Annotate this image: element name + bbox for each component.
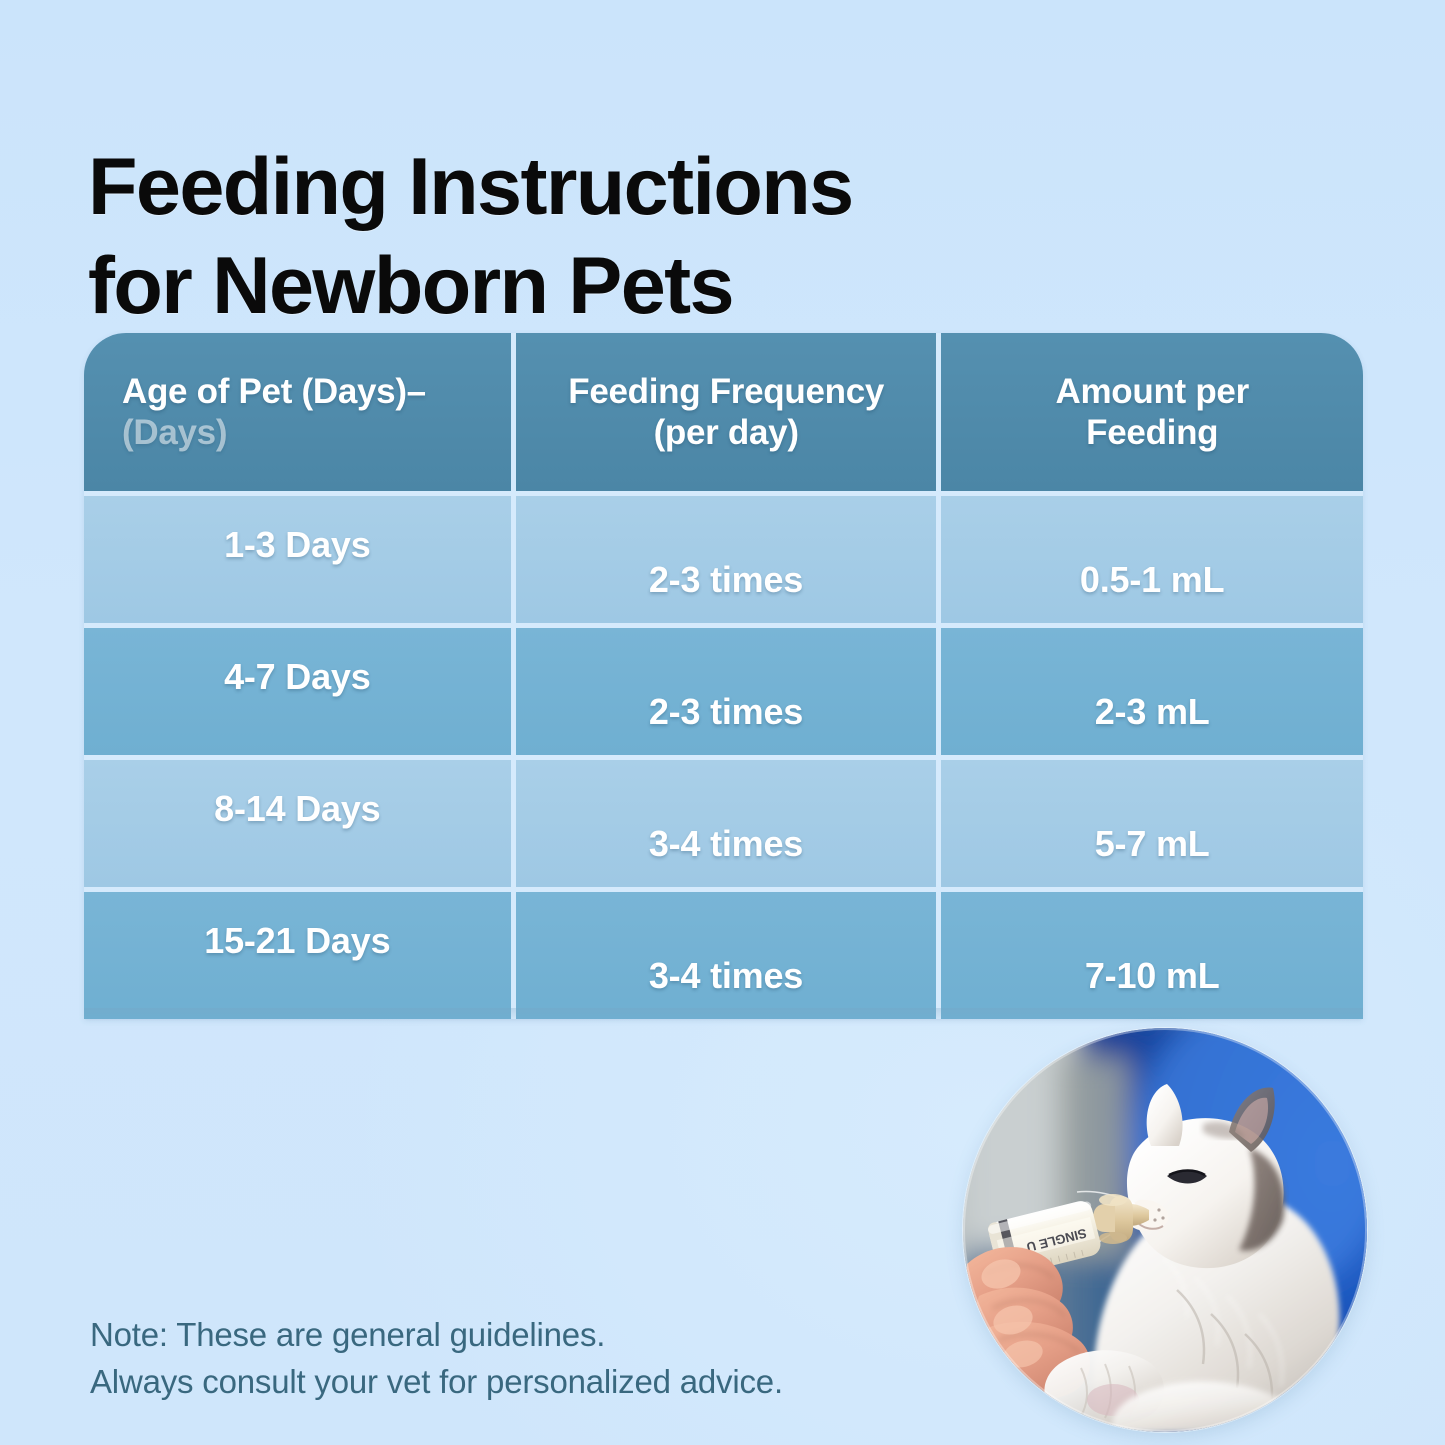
cell-frequency: 2-3 times (516, 628, 937, 755)
note-line-2: Always consult your vet for personalized… (90, 1359, 783, 1406)
page-title-line-1: Feeding Instructions (88, 138, 1188, 237)
table-header-row: Age of Pet (Days)– (Days) Feeding Freque… (84, 333, 1363, 491)
cell-age: 1-3 Days (84, 496, 511, 623)
cell-age: 8-14 Days (84, 760, 511, 887)
table-header-amount-line-2: Feeding (1086, 412, 1218, 453)
cell-amount: 0.5-1 mL (941, 496, 1363, 623)
table-header-age-sub: (Days) (122, 412, 227, 453)
kitten-bottle-feeding-photo: SINGLE U (963, 1028, 1367, 1432)
page-title: Feeding Instructions for Newborn Pets (88, 138, 1188, 336)
cell-frequency: 2-3 times (516, 496, 937, 623)
page-title-line-2: for Newborn Pets (88, 237, 1188, 336)
table-header-amount: Amount per Feeding (941, 333, 1363, 491)
table-header-age-main: Age of Pet (Days)– (122, 371, 426, 412)
cell-age: 4-7 Days (84, 628, 511, 755)
table-row: 8-14 Days 3-4 times 5-7 mL (84, 760, 1363, 887)
table-row: 15-21 Days 3-4 times 7-10 mL (84, 892, 1363, 1019)
cell-amount: 2-3 mL (941, 628, 1363, 755)
note-text: Note: These are general guidelines. Alwa… (90, 1312, 783, 1406)
cell-frequency: 3-4 times (516, 760, 937, 887)
table-header-amount-line-1: Amount per (1056, 371, 1249, 412)
cell-amount: 7-10 mL (941, 892, 1363, 1019)
cell-age: 15-21 Days (84, 892, 511, 1019)
cell-amount: 5-7 mL (941, 760, 1363, 887)
feeding-instructions-table: Age of Pet (Days)– (Days) Feeding Freque… (84, 333, 1363, 1019)
table-header-age: Age of Pet (Days)– (Days) (84, 333, 511, 491)
table-row: 1-3 Days 2-3 times 0.5-1 mL (84, 496, 1363, 623)
cell-frequency: 3-4 times (516, 892, 937, 1019)
table-header-frequency: Feeding Frequency (per day) (516, 333, 937, 491)
note-line-1: Note: These are general guidelines. (90, 1312, 783, 1359)
table-row: 4-7 Days 2-3 times 2-3 mL (84, 628, 1363, 755)
table-header-frequency-line-2: (per day) (654, 412, 799, 453)
table-bottom-shadow (84, 1008, 1363, 1022)
table-header-frequency-line-1: Feeding Frequency (568, 371, 884, 412)
